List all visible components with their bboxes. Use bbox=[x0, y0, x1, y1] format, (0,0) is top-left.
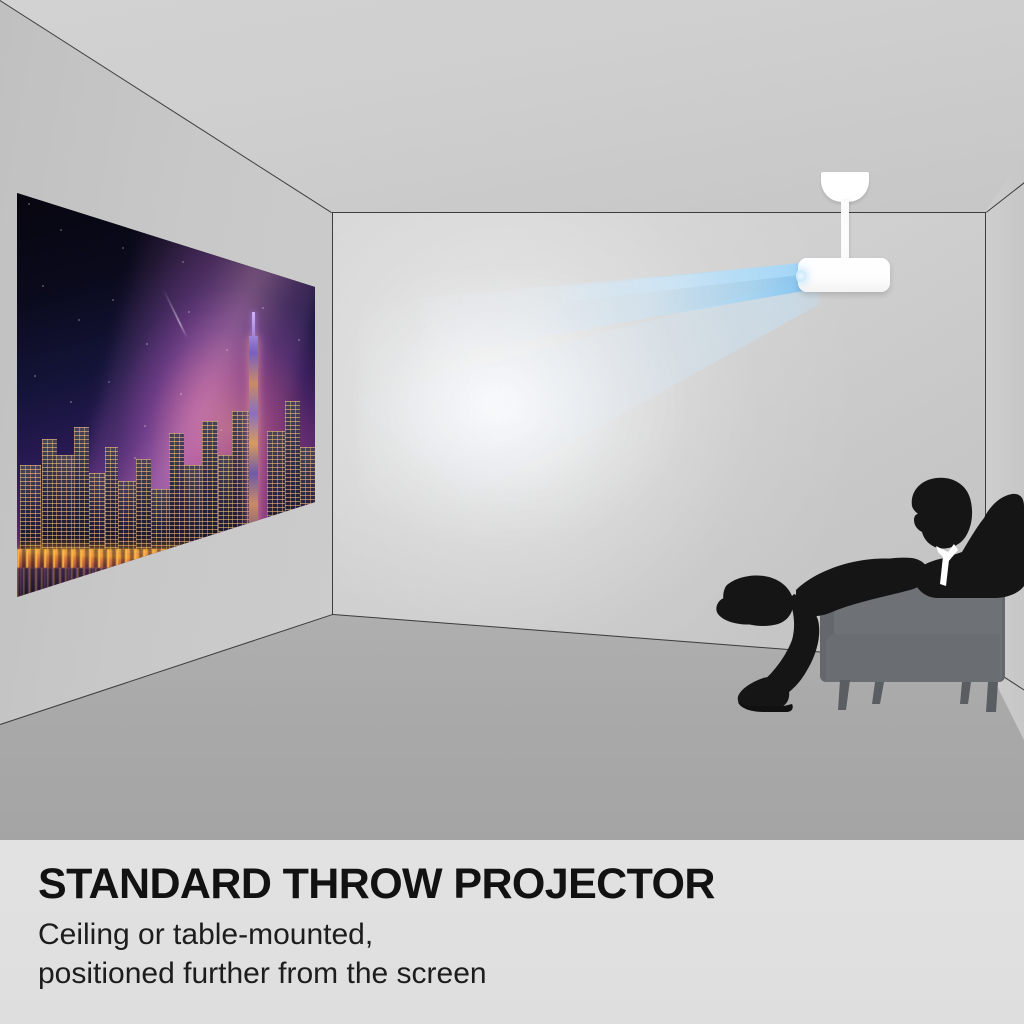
building bbox=[42, 439, 57, 551]
armchair-leg-front bbox=[838, 680, 850, 710]
building bbox=[136, 459, 151, 551]
building bbox=[151, 489, 170, 551]
projector-body[interactable] bbox=[798, 258, 890, 292]
armchair-leg-back bbox=[960, 682, 971, 704]
caption-title: STANDARD THROW PROJECTOR bbox=[38, 862, 986, 907]
armchair-leg-rear bbox=[986, 682, 998, 712]
ceiling-mount-dome-icon bbox=[821, 181, 869, 202]
caption-subtitle: Ceiling or table-mounted, positioned fur… bbox=[38, 915, 986, 993]
armchair-skirt bbox=[826, 634, 1000, 682]
building bbox=[202, 421, 218, 551]
left-corner-line bbox=[332, 212, 333, 615]
caption-subtitle-line-2: positioned further from the screen bbox=[38, 954, 986, 993]
caption-subtitle-line-1: Ceiling or table-mounted, bbox=[38, 915, 986, 954]
building bbox=[20, 465, 41, 551]
projector-lens-icon bbox=[796, 269, 806, 283]
viewer-head bbox=[912, 478, 972, 549]
viewer-and-armchair-illustration bbox=[700, 468, 1024, 718]
building bbox=[56, 455, 75, 551]
building bbox=[105, 447, 118, 551]
ceiling-projector[interactable] bbox=[790, 172, 900, 297]
caption-band: STANDARD THROW PROJECTOR Ceiling or tabl… bbox=[0, 840, 1024, 1024]
landmark-tower bbox=[249, 336, 258, 551]
building bbox=[184, 465, 202, 551]
building bbox=[118, 481, 136, 551]
scene-root: STANDARD THROW PROJECTOR Ceiling or tabl… bbox=[0, 0, 1024, 1024]
building bbox=[74, 427, 89, 551]
building bbox=[89, 473, 107, 551]
mount-drop-pole bbox=[841, 200, 849, 266]
armchair-leg-mid bbox=[872, 682, 884, 704]
seating-group bbox=[700, 468, 1024, 718]
building bbox=[169, 433, 184, 551]
